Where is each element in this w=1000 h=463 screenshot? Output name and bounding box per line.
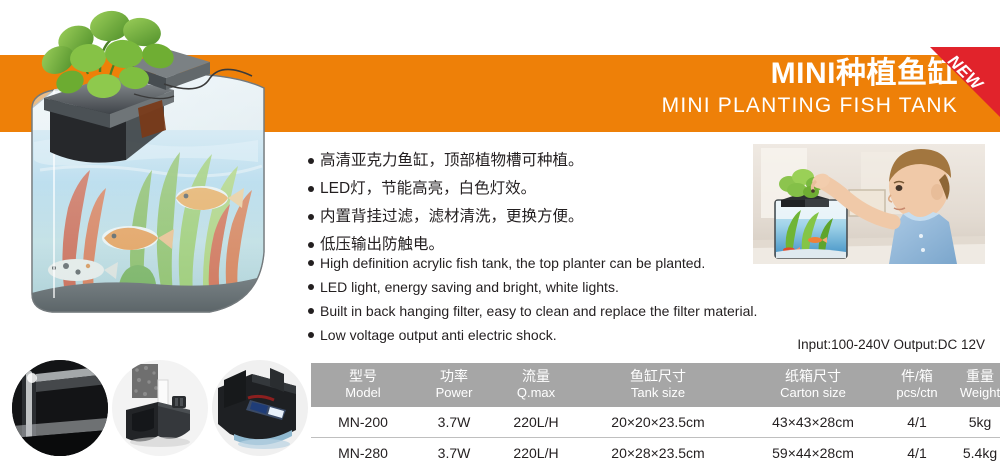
list-item: 高清亚克力鱼缸，顶部植物槽可种植。 bbox=[308, 148, 748, 174]
feature-text: LED light, energy saving and bright, whi… bbox=[320, 276, 758, 298]
cell-power: 3.7W bbox=[415, 438, 493, 463]
feature-list-cn: 高清亚克力鱼缸，顶部植物槽可种植。 LED灯，节能高亮，白色灯效。 内置背挂过滤… bbox=[308, 148, 748, 260]
fish-tank-illustration bbox=[14, 2, 304, 342]
cell-pcs-ctn: 4/1 bbox=[889, 407, 945, 438]
table-header-row: 型号 Model 功率 Power 流量 Q.max 鱼缸尺寸 Tank siz… bbox=[311, 363, 1000, 407]
cell-power: 3.7W bbox=[415, 407, 493, 438]
bullet-dot-icon bbox=[308, 186, 314, 192]
cell-model: MN-200 bbox=[311, 407, 415, 438]
product-flyer: MINI种植鱼缸 MINI PLANTING FISH TANK NEW bbox=[0, 0, 1000, 463]
feature-list-en: High definition acrylic fish tank, the t… bbox=[308, 252, 758, 348]
table-row: MN-280 3.7W 220L/H 20×28×23.5cm 59×44×28… bbox=[311, 438, 1000, 463]
cell-model: MN-280 bbox=[311, 438, 415, 463]
column-header-tank-size: 鱼缸尺寸 Tank size bbox=[579, 363, 737, 407]
bullet-dot-icon bbox=[308, 308, 314, 314]
filter-sponge-detail-illustration bbox=[112, 360, 208, 456]
column-header-carton-size: 纸箱尺寸 Carton size bbox=[737, 363, 889, 407]
column-header-power: 功率 Power bbox=[415, 363, 493, 407]
bullet-dot-icon bbox=[308, 242, 314, 248]
list-item: 内置背挂过滤，滤材清洗，更换方便。 bbox=[308, 204, 748, 230]
hero-product-image bbox=[14, 2, 304, 342]
cell-qmax: 220L/H bbox=[493, 407, 579, 438]
detail-thumbnail-acrylic-edge bbox=[12, 360, 108, 456]
boy-feeding-fish-illustration bbox=[753, 144, 985, 264]
led-light-detail-illustration bbox=[212, 360, 308, 456]
cell-tank-size: 20×28×23.5cm bbox=[579, 438, 737, 463]
list-item: Low voltage output anti electric shock. bbox=[308, 324, 758, 346]
bullet-dot-icon bbox=[308, 284, 314, 290]
feature-text: High definition acrylic fish tank, the t… bbox=[320, 252, 758, 274]
column-header-model: 型号 Model bbox=[311, 363, 415, 407]
detail-thumbnail-filter-sponge bbox=[112, 360, 208, 456]
lifestyle-image bbox=[753, 144, 985, 264]
detail-thumbnail-led-light bbox=[212, 360, 308, 456]
feature-text: LED灯，节能高亮，白色灯效。 bbox=[320, 176, 748, 202]
cell-tank-size: 20×20×23.5cm bbox=[579, 407, 737, 438]
bullet-dot-icon bbox=[308, 158, 314, 164]
cell-weight: 5.4kg bbox=[945, 438, 1000, 463]
power-spec-text: Input:100-240V Output:DC 12V bbox=[797, 337, 985, 352]
detail-thumbnail-strip bbox=[10, 358, 300, 458]
bullet-dot-icon bbox=[308, 332, 314, 338]
feature-text: Built in back hanging filter, easy to cl… bbox=[320, 300, 758, 322]
feature-text: Low voltage output anti electric shock. bbox=[320, 324, 758, 346]
column-header-pcs-ctn: 件/箱 pcs/ctn bbox=[889, 363, 945, 407]
cell-weight: 5kg bbox=[945, 407, 1000, 438]
feature-text: 高清亚克力鱼缸，顶部植物槽可种植。 bbox=[320, 148, 748, 174]
cell-carton-size: 43×43×28cm bbox=[737, 407, 889, 438]
table-row: MN-200 3.7W 220L/H 20×20×23.5cm 43×43×28… bbox=[311, 407, 1000, 438]
bullet-dot-icon bbox=[308, 260, 314, 266]
list-item: LED light, energy saving and bright, whi… bbox=[308, 276, 758, 298]
bullet-dot-icon bbox=[308, 214, 314, 220]
list-item: LED灯，节能高亮，白色灯效。 bbox=[308, 176, 748, 202]
acrylic-edge-detail-illustration bbox=[12, 360, 108, 456]
feature-text: 内置背挂过滤，滤材清洗，更换方便。 bbox=[320, 204, 748, 230]
cell-pcs-ctn: 4/1 bbox=[889, 438, 945, 463]
cell-qmax: 220L/H bbox=[493, 438, 579, 463]
column-header-weight: 重量 Weight bbox=[945, 363, 1000, 407]
list-item: High definition acrylic fish tank, the t… bbox=[308, 252, 758, 274]
cell-carton-size: 59×44×28cm bbox=[737, 438, 889, 463]
column-header-qmax: 流量 Q.max bbox=[493, 363, 579, 407]
new-badge: NEW bbox=[930, 47, 1000, 117]
spec-table: 型号 Model 功率 Power 流量 Q.max 鱼缸尺寸 Tank siz… bbox=[311, 363, 1000, 463]
list-item: Built in back hanging filter, easy to cl… bbox=[308, 300, 758, 322]
